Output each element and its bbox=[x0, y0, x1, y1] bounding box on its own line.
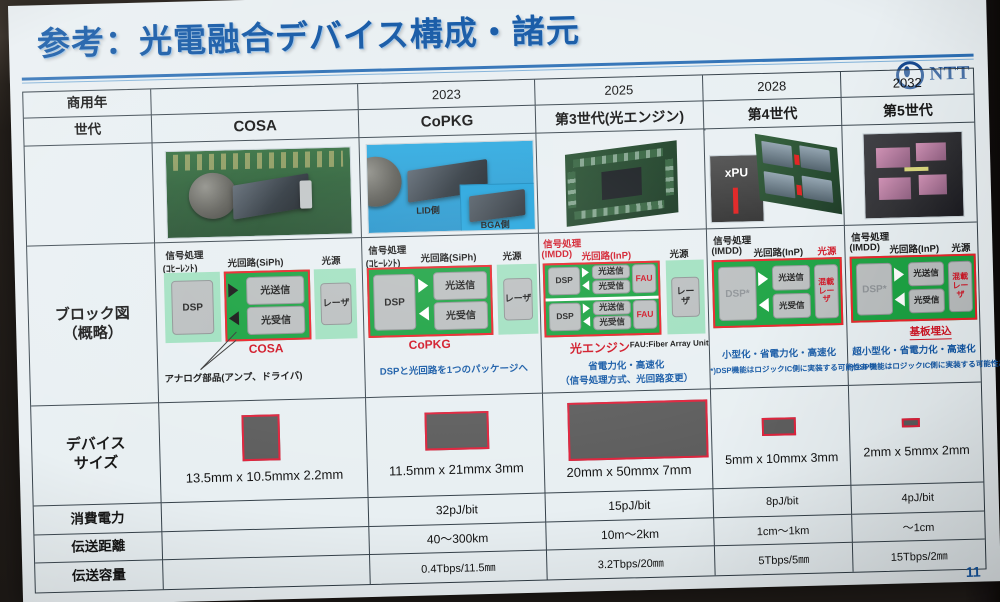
label-optical-circuit-col1: 光回路(SiPh) bbox=[227, 254, 283, 269]
row-label-block-diagram: ブロック図 （概略） bbox=[27, 243, 159, 406]
cell-photo-col1 bbox=[153, 138, 362, 243]
device-size-text-col5: 2mm x 5mmx 2mm bbox=[850, 442, 982, 459]
row-label-device-size-l1: デバイス bbox=[66, 435, 126, 455]
label-light-source-col3: 光源 bbox=[669, 246, 688, 260]
spec-table: 商用年 世代 ブロック図 （概略） デバイス サイズ 消費電力 伝送距離 伝送容… bbox=[22, 68, 986, 594]
label-light-source-col1: 光源 bbox=[321, 253, 340, 267]
label-light-source-col2: 光源 bbox=[502, 248, 521, 262]
block-laser-col3: レーザ bbox=[671, 277, 700, 318]
cell-photo-col4: xPU bbox=[704, 126, 844, 229]
block-laser-col2: レーザ bbox=[503, 278, 533, 321]
note-analog-parts-col1: アナログ部品(アンプ、ドライバ) bbox=[164, 368, 302, 385]
cell-block-col4: 信号処理 (IMDD) 光回路(InP) 光源 DSP* 光送信 光受信 混載 … bbox=[707, 226, 849, 389]
block-laser-col5: 混載 レーザ bbox=[948, 261, 973, 313]
cell-block-col5: 信号処理 (IMDD) 光回路(InP) 光源 DSP* 光送信 光受信 混載 … bbox=[845, 223, 981, 386]
block-tx-col5: 光送信 bbox=[908, 261, 945, 286]
screenshot-stage: 参考：光電融合デバイス構成・諸元 NTT 商用年 世代 ブロック図 （概略） デ… bbox=[0, 0, 1000, 602]
row-label-commercial-year: 商用年 bbox=[23, 89, 152, 118]
cell-distance-col3: 10m〜2km bbox=[546, 518, 715, 550]
cell-generation-col3: 第3世代(光エンジン) bbox=[536, 101, 705, 133]
device-size-text-col3: 20mm x 50mmx 7mm bbox=[545, 461, 713, 480]
cell-block-col1: 信号処理 (ｺﾋｰﾚﾝﾄ) 光回路(SiPh) 光源 DSP 光送信 光受信 レ… bbox=[155, 238, 366, 403]
cell-capacity-col1 bbox=[163, 555, 371, 589]
block-dsp-col1: DSP bbox=[171, 280, 214, 335]
block-tx-col2: 光送信 bbox=[433, 271, 488, 300]
cell-year-col4: 2028 bbox=[703, 72, 842, 101]
cell-device-size-col3: 20mm x 50mmx 7mm bbox=[543, 389, 713, 493]
row-label-device-size-l2: サイズ bbox=[74, 454, 119, 474]
label-signal-processing-sub-col5: (IMDD) bbox=[849, 242, 880, 254]
label-optical-circuit-col2: 光回路(SiPh) bbox=[420, 249, 476, 264]
row-label-power: 消費電力 bbox=[34, 503, 163, 535]
projected-slide: 参考：光電融合デバイス構成・諸元 NTT 商用年 世代 ブロック図 （概略） デ… bbox=[8, 0, 1000, 602]
row-label-block-diagram-l2: （概略） bbox=[63, 324, 123, 344]
cell-photo-col2: LID側 BGA側 bbox=[359, 134, 538, 238]
block-rx-col3-b: 光受信 bbox=[593, 315, 631, 330]
page-number: 11 bbox=[966, 564, 981, 580]
block-tx-col3-a: 光送信 bbox=[592, 264, 630, 279]
cell-device-size-col4: 5mm x 10mmx 3mm bbox=[711, 386, 851, 489]
row-label-generation: 世代 bbox=[24, 115, 153, 146]
cell-generation-col5: 第5世代 bbox=[842, 95, 975, 126]
cell-device-size-col2: 11.5mm x 21mmx 3mm bbox=[366, 394, 545, 498]
cell-block-col2: 信号処理 (ｺﾋｰﾚﾝﾄ) 光回路(SiPh) 光源 DSP 光送信 光受信 レ… bbox=[362, 234, 543, 398]
block-fau-col3-a: FAU bbox=[632, 264, 657, 294]
photo-optical-engine bbox=[553, 136, 689, 227]
label-light-source-col5: 光源 bbox=[951, 240, 970, 254]
row-label-device-size: デバイス サイズ bbox=[31, 403, 161, 506]
device-size-text-col1: 13.5mm x 10.5mmx 2.2mm bbox=[161, 466, 368, 486]
note-col5: 超小型化・省電力化・高速化 bbox=[848, 341, 980, 358]
device-size-swatch-col5 bbox=[902, 418, 920, 427]
photo-gen4-board bbox=[752, 132, 844, 220]
label-signal-processing-sub-col3: (IMDD) bbox=[541, 249, 572, 261]
cell-distance-col5: 〜1cm bbox=[852, 511, 985, 542]
cell-block-col3: 信号処理 (IMDD) 光回路(InP) 光源 DSP 光送信 光受信 FAU … bbox=[539, 229, 711, 393]
photo-cosa-module bbox=[165, 146, 353, 239]
cell-capacity-col4: 5Tbps/5㎜ bbox=[715, 543, 854, 575]
note2-col4: *)DSP機能はロジックIC側に実装する可能性あり bbox=[710, 362, 848, 376]
tag-cosa-col1: COSA bbox=[249, 341, 284, 356]
cell-device-size-col5: 2mm x 5mmx 2mm bbox=[849, 383, 983, 486]
cell-power-col4: 8pJ/bit bbox=[713, 486, 852, 518]
block-rx-col1: 光受信 bbox=[247, 306, 306, 335]
cell-power-col3: 15pJ/bit bbox=[546, 489, 715, 522]
cell-power-col5: 4pJ/bit bbox=[851, 482, 984, 514]
note2-col3: （信号処理方式、光回路変更） bbox=[542, 369, 710, 387]
row-label-distance: 伝送距離 bbox=[34, 532, 163, 563]
tag-fau-legend-col3: FAU:Fiber Array Unit bbox=[630, 338, 709, 349]
tag-substrate-embedded-col5: 基板埋込 bbox=[909, 323, 951, 340]
device-size-swatch-col1 bbox=[241, 414, 280, 461]
photo-label-lid: LID側 bbox=[416, 203, 440, 217]
block-rx-col5: 光受信 bbox=[908, 288, 945, 313]
block-tx-col1: 光送信 bbox=[246, 276, 305, 305]
block-dsp-col3-a: DSP bbox=[548, 267, 581, 296]
row-label-photo bbox=[25, 143, 155, 246]
row-label-capacity: 伝送容量 bbox=[35, 560, 164, 592]
cell-generation-col2: CoPKG bbox=[359, 106, 537, 138]
note-col4: 小型化・省電力化・高速化 bbox=[710, 344, 848, 361]
label-light-source-col4: 光源 bbox=[817, 243, 836, 257]
block-dsp-col2: DSP bbox=[373, 274, 416, 331]
cell-generation-col4: 第4世代 bbox=[704, 98, 843, 129]
cell-year-col5: 2032 bbox=[841, 69, 974, 98]
device-size-text-col4: 5mm x 10mmx 3mm bbox=[713, 450, 851, 467]
block-laser-col1: レーザ bbox=[320, 282, 352, 325]
cell-distance-col2: 40〜300km bbox=[369, 523, 547, 555]
cell-device-size-col1: 13.5mm x 10.5mmx 2.2mm bbox=[159, 398, 368, 503]
label-optical-circuit-col5: 光回路(InP) bbox=[889, 241, 939, 256]
device-size-swatch-col2 bbox=[424, 411, 489, 451]
row-label-block-diagram-l1: ブロック図 bbox=[55, 305, 130, 326]
block-dsp-col3-b: DSP bbox=[549, 303, 582, 332]
block-tx-col4: 光送信 bbox=[772, 265, 811, 291]
block-laser-col5-l2: レーザ bbox=[949, 282, 971, 300]
label-optical-circuit-col3: 光回路(InP) bbox=[581, 247, 631, 262]
block-rx-col2: 光受信 bbox=[434, 301, 489, 330]
label-signal-processing-sub-col4: (IMDD) bbox=[711, 246, 742, 258]
cell-photo-col3 bbox=[536, 129, 706, 233]
block-dsp-col5: DSP* bbox=[856, 263, 893, 316]
photo-gen5-wafer bbox=[862, 131, 964, 220]
cell-photo-col5 bbox=[842, 123, 976, 226]
block-rx-col4: 光受信 bbox=[773, 293, 812, 319]
block-laser-col4: 混載 レーザ bbox=[814, 264, 839, 319]
label-optical-circuit-col4: 光回路(InP) bbox=[753, 244, 803, 259]
cell-power-col2: 32pJ/bit bbox=[369, 494, 547, 527]
photo-label-bga: BGA側 bbox=[481, 217, 510, 231]
cell-capacity-col2: 0.4Tbps/11.5㎜ bbox=[370, 551, 548, 584]
photo-label-xpu: xPU bbox=[716, 161, 757, 184]
device-size-swatch-col4 bbox=[762, 417, 796, 436]
cell-capacity-col3: 3.2Tbps/20㎜ bbox=[547, 546, 716, 579]
block-rx-col3-a: 光受信 bbox=[592, 279, 630, 294]
block-fau-col3-b: FAU bbox=[633, 300, 658, 330]
block-dsp-col4: DSP* bbox=[718, 266, 757, 321]
device-size-swatch-col3 bbox=[567, 399, 708, 461]
block-laser-col4-l2: レーザ bbox=[815, 287, 837, 305]
photo-copkg-module: LID側 BGA側 bbox=[366, 140, 536, 234]
device-size-text-col2: 11.5mm x 21mmx 3mm bbox=[368, 460, 545, 479]
cell-distance-col4: 1cm〜1km bbox=[714, 515, 853, 546]
tag-optical-engine-col3: 光エンジン bbox=[570, 338, 630, 357]
tag-copkg-col2: CoPKG bbox=[409, 337, 451, 352]
block-tx-col3-b: 光送信 bbox=[593, 300, 631, 315]
note2-col5: *)DSP機能はロジックIC側に実装する可能性あり bbox=[848, 359, 980, 373]
note-col2: DSPと光回路を1つのパッケージへ bbox=[365, 360, 542, 378]
